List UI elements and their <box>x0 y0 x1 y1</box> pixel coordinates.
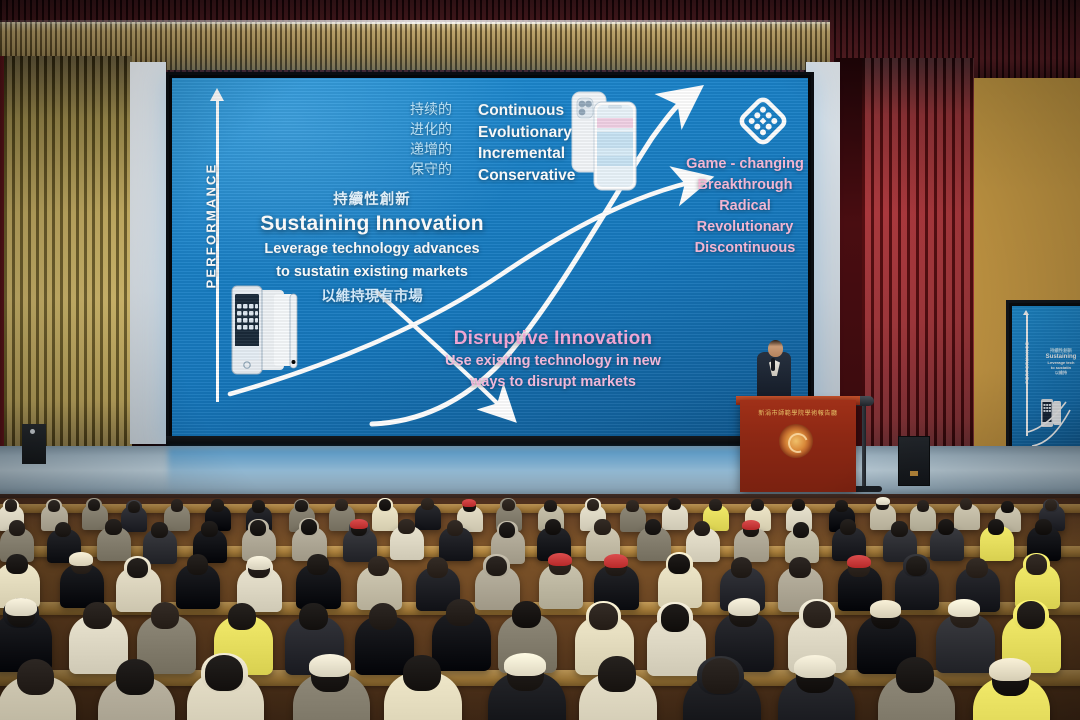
en-label-2: Incremental <box>478 143 575 165</box>
audience-hat <box>870 600 902 618</box>
cn-label-1: 进化的 <box>410 120 452 140</box>
lecture-hall-photo: PERFORMANCE 持续的 进化的 递增的 保守的 C <box>0 0 1080 720</box>
audience-head <box>228 603 257 630</box>
sustaining-subtitle-2: to sustatin existing markets <box>227 263 517 282</box>
audience-head <box>211 499 224 511</box>
stage-speaker-left <box>22 424 46 464</box>
en-label-3: Conservative <box>478 165 575 187</box>
audience-head <box>545 519 562 535</box>
en-label-0: Continuous <box>478 100 575 122</box>
audience-head <box>88 499 101 511</box>
cn-label-3: 保守的 <box>410 160 452 180</box>
audience-hat <box>742 520 760 530</box>
audience-head <box>960 498 973 510</box>
curtain-right <box>862 58 974 468</box>
presenter-head <box>768 340 783 357</box>
secondary-phone-image <box>1040 398 1062 428</box>
audience-head <box>512 601 541 628</box>
secondary-sub-2: to sustatin <box>1038 365 1080 370</box>
audience-head <box>917 500 930 512</box>
microphone-stand <box>862 404 866 490</box>
audience-head <box>731 557 753 578</box>
audience-head <box>661 604 690 631</box>
audience-head <box>702 658 740 694</box>
audience-head <box>369 603 398 630</box>
secondary-y-axis-arrow-icon <box>1023 310 1029 315</box>
audience-head <box>1035 519 1052 535</box>
disruptive-subtitle-1: Use existing technology in new <box>428 352 678 371</box>
audience-head <box>398 519 415 535</box>
audience-head <box>1001 501 1014 513</box>
valance-highlight <box>0 20 830 24</box>
secondary-monitor-slide: PERFORMANCE 持續性創新 Sustaining Leverage te… <box>1012 306 1080 468</box>
audience-head <box>368 556 390 577</box>
audience-head <box>668 554 690 575</box>
audience-head <box>694 521 711 537</box>
slide-content: PERFORMANCE 持续的 进化的 递增的 保守的 C <box>172 78 808 440</box>
audience-head <box>301 519 318 535</box>
secondary-heading: Sustaining <box>1038 354 1080 360</box>
audience-head <box>250 520 267 536</box>
podium-emblem-icon <box>779 424 813 458</box>
sustaining-heading: Sustaining Innovation <box>227 212 517 236</box>
audience-head <box>83 602 112 629</box>
audience-head <box>151 602 180 629</box>
audience-hat <box>5 598 37 616</box>
game-changing-block: Game - changing Breakthrough Radical Rev… <box>670 154 808 258</box>
audience-head <box>421 498 434 510</box>
audience-hat <box>876 497 890 505</box>
audience-head <box>9 520 26 536</box>
audience-head <box>486 556 508 577</box>
audience-head <box>171 499 184 511</box>
audience-head <box>105 519 122 535</box>
en-label-1: Evolutionary <box>478 122 575 144</box>
curtain-left <box>4 56 132 448</box>
audience-hat <box>247 556 271 569</box>
audience-head <box>5 499 18 511</box>
game-line-2: Radical <box>670 196 808 217</box>
secondary-chinese-sub: 以維持 <box>1038 370 1080 376</box>
audience-head <box>803 601 832 628</box>
presenter-microphone <box>771 358 775 371</box>
cn-label-2: 递增的 <box>410 140 452 160</box>
audience-area <box>0 498 1080 720</box>
audience-head <box>793 522 810 538</box>
audience-head <box>645 519 662 535</box>
screen-reflection <box>168 448 808 496</box>
audience-head <box>835 500 848 512</box>
audience-hat <box>462 499 476 507</box>
stage-speaker-right <box>898 436 930 486</box>
audience-head <box>988 519 1005 535</box>
secondary-curves <box>1012 306 1080 468</box>
audience-hat <box>504 653 546 676</box>
audience-head <box>1017 601 1046 628</box>
audience-hat <box>604 554 628 567</box>
screen-bottom-bezel <box>166 436 808 446</box>
audience-head <box>295 500 308 512</box>
secondary-text-block: 持續性創新 Sustaining Leverage tech to sustat… <box>1038 348 1080 376</box>
top-english-labels: Continuous Evolutionary Incremental Cons… <box>478 100 575 187</box>
audience-head <box>48 500 61 512</box>
audience-head <box>906 556 928 577</box>
podium-text: 新涓市師範學院學術報告廳 <box>744 408 852 417</box>
audience-head <box>17 659 55 695</box>
original-iphone-image <box>230 284 302 376</box>
audience-hat <box>728 598 760 616</box>
audience-head <box>891 521 908 537</box>
game-line-1: Breakthrough <box>670 175 808 196</box>
audience-head <box>544 500 557 512</box>
audience-hat <box>548 553 572 566</box>
modern-iphone-image <box>568 88 640 194</box>
secondary-chinese-heading: 持續性創新 <box>1038 348 1080 354</box>
secondary-y-axis <box>1026 314 1028 436</box>
audience-hat <box>69 552 93 565</box>
audience-head <box>403 655 441 691</box>
audience-head <box>201 521 218 537</box>
game-line-4: Discontinuous <box>670 238 808 259</box>
audience-head <box>128 501 141 513</box>
disruptive-heading: Disruptive Innovation <box>428 328 678 350</box>
audience-hat <box>948 599 980 617</box>
audience-head <box>427 557 449 578</box>
proscenium-panel-left <box>130 62 166 444</box>
game-line-3: Revolutionary <box>670 217 808 238</box>
audience-head <box>252 500 265 512</box>
audience-head <box>55 522 72 538</box>
audience-head <box>1026 554 1048 575</box>
audience-head <box>792 499 805 511</box>
audience-head <box>587 499 600 511</box>
audience-head <box>938 519 955 535</box>
audience-head <box>709 499 722 511</box>
secondary-sub-1: Leverage tech <box>1038 360 1080 365</box>
audience-head <box>6 554 28 575</box>
audience-head <box>896 657 934 693</box>
audience-head <box>187 554 209 575</box>
audience-head <box>379 499 392 511</box>
audience-head <box>299 603 328 630</box>
sustaining-chinese-heading: 持續性創新 <box>227 188 517 209</box>
audience-head <box>447 520 464 536</box>
audience-hat <box>794 655 836 678</box>
audience-hat <box>350 519 368 529</box>
audience-head <box>840 519 857 535</box>
audience-head <box>751 499 764 511</box>
audience-hat <box>989 658 1031 681</box>
audience-head <box>626 500 639 512</box>
audience-head <box>594 519 611 535</box>
audience-head <box>446 599 475 626</box>
top-chinese-labels: 持续的 进化的 递增的 保守的 <box>410 100 452 180</box>
sustaining-subtitle-1: Leverage technology advances <box>227 240 517 259</box>
disruptive-innovation-block: Disruptive Innovation Use existing techn… <box>428 328 678 393</box>
cn-label-0: 持续的 <box>410 100 452 120</box>
audience-head <box>789 557 811 578</box>
audience-head <box>205 655 243 691</box>
audience-hat <box>309 654 351 677</box>
audience-head <box>151 522 168 538</box>
presentation-screen: PERFORMANCE 持续的 进化的 递增的 保守的 C <box>166 72 814 446</box>
audience-head <box>499 522 516 538</box>
audience-head <box>668 498 681 510</box>
audience-head <box>116 659 154 695</box>
audience-head <box>589 603 618 630</box>
secondary-axis-label: PERFORMANCE <box>1025 336 1030 390</box>
audience-head <box>598 656 636 692</box>
audience-hat <box>847 555 871 568</box>
game-line-0: Game - changing <box>670 154 808 175</box>
audience-head <box>127 558 149 579</box>
audience-head <box>307 554 329 575</box>
disruptive-subtitle-2: ways to disrupt markets <box>428 373 678 392</box>
audience-head <box>966 558 988 579</box>
audience-head <box>335 499 348 511</box>
audience-head <box>502 499 515 511</box>
